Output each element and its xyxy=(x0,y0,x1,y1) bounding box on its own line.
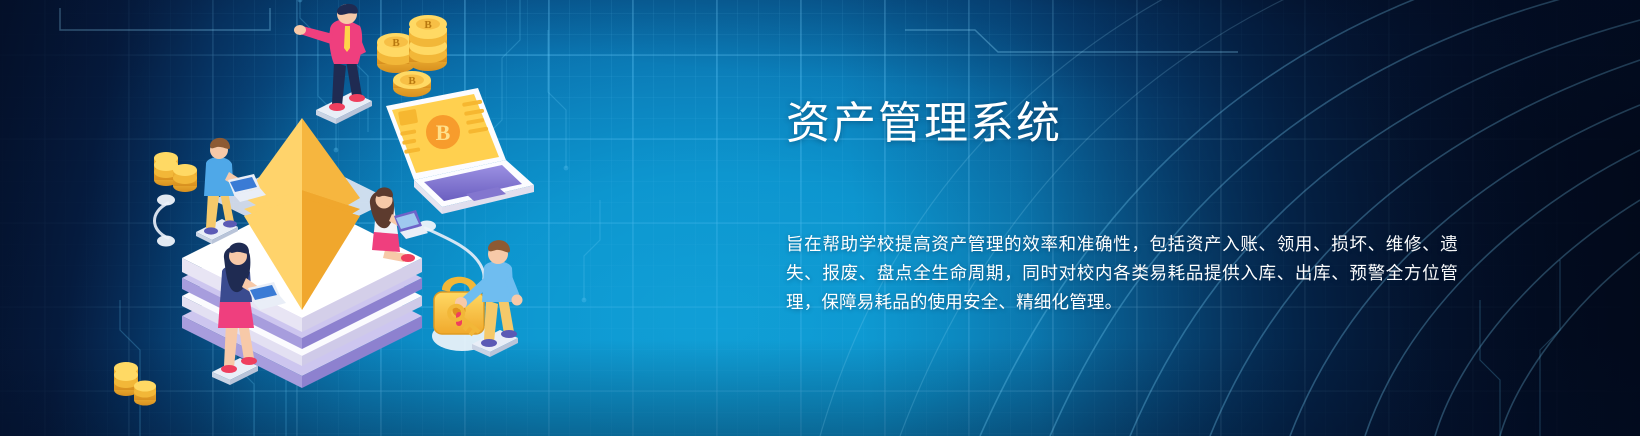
svg-text:B: B xyxy=(392,37,400,49)
hero-illustration: B B xyxy=(0,0,640,436)
hero-banner: B B xyxy=(0,0,1640,436)
svg-text:B: B xyxy=(436,120,451,145)
banner-content: 资产管理系统 旨在帮助学校提高资产管理的效率和准确性，包括资产入账、领用、损坏、… xyxy=(786,0,1486,436)
banner-description: 旨在帮助学校提高资产管理的效率和准确性，包括资产入账、领用、损坏、维修、遗失、报… xyxy=(786,230,1458,317)
svg-text:B: B xyxy=(408,75,416,87)
page-title: 资产管理系统 xyxy=(786,99,1062,150)
svg-text:B: B xyxy=(424,19,432,31)
